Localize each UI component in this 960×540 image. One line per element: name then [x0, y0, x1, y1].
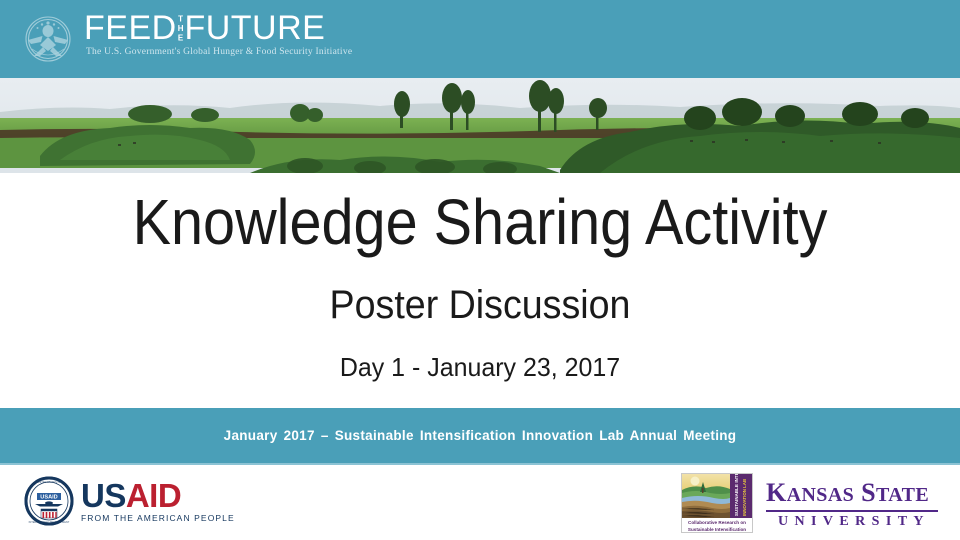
svg-text:UNITED STATES OF: UNITED STATES OF — [37, 480, 62, 484]
usaid-word-us: US — [81, 477, 126, 514]
feed-the-future-wordmark: FEED T H E FUTURE The U.S. Government's … — [84, 12, 352, 57]
ftf-word-future: FUTURE — [184, 12, 325, 44]
landscape-photo-band — [0, 78, 960, 173]
kstate-s: S — [861, 478, 876, 507]
usaid-word-aid: AID — [126, 477, 181, 514]
header-bar: FEED T H E FUTURE The U.S. Government's … — [0, 0, 960, 78]
kstate-k: K — [766, 478, 787, 507]
usaid-seal-icon: USAID UNITED STA — [24, 476, 74, 526]
usaid-tagline: FROM THE AMERICAN PEOPLE — [81, 513, 235, 523]
svg-text:INTERNATIONAL DEVELOPMENT: INTERNATIONAL DEVELOPMENT — [29, 520, 70, 524]
kstate-ansas: ANSAS — [787, 484, 855, 506]
ftf-the-letter-e: E — [178, 33, 184, 42]
us-eagle-seal-icon — [18, 9, 78, 69]
presentation-slide: FEED T H E FUTURE The U.S. Government's … — [0, 0, 960, 540]
kstate-divider — [766, 510, 938, 512]
kstate-wordmark-top: KANSAS STATE — [766, 479, 938, 509]
event-banner-text: January 2017 – Sustainable Intensificati… — [224, 428, 737, 443]
page-date: Day 1 - January 23, 2017 — [19, 351, 941, 383]
feed-the-future-logo: FEED T H E FUTURE The U.S. Government's … — [18, 9, 352, 69]
ftf-the-letter-t: T — [178, 14, 184, 23]
kstate-tate: TATE — [876, 484, 929, 506]
kansas-state-logo: KANSAS STATE UNIVERSITY — [766, 479, 938, 530]
ftf-word-the: T H E — [178, 12, 184, 45]
siil-band-line1: SUSTAINABLE INTENSIFICATION — [734, 474, 739, 516]
siil-band-line2: INNOVATION LAB — [742, 474, 747, 516]
siil-landscape-icon — [682, 474, 730, 518]
siil-logo: SUSTAINABLE INTENSIFICATION INNOVATION L… — [681, 473, 753, 533]
event-banner: January 2017 – Sustainable Intensificati… — [0, 408, 960, 463]
page-subtitle: Poster Discussion — [29, 281, 931, 329]
ftf-word-feed: FEED — [84, 12, 177, 44]
siil-caption-line1: Collaborative Research on — [682, 518, 752, 525]
kstate-wordmark-bottom: UNIVERSITY — [766, 514, 938, 530]
ftf-the-letter-h: H — [178, 23, 184, 32]
slide-content: Knowledge Sharing Activity Poster Discus… — [0, 173, 960, 408]
svg-text:USAID: USAID — [40, 495, 57, 501]
siil-purple-band: SUSTAINABLE INTENSIFICATION INNOVATION L… — [730, 474, 752, 518]
ftf-tagline: The U.S. Government's Global Hunger & Fo… — [86, 47, 352, 57]
page-title: Knowledge Sharing Activity — [48, 183, 912, 261]
footer-logo-strip: USAID UNITED STA — [0, 465, 960, 540]
usaid-logo: USAID UNITED STA — [24, 476, 235, 526]
siil-caption-line2: Sustainable Intensification — [682, 525, 752, 532]
usaid-wordmark: USAID FROM THE AMERICAN PEOPLE — [81, 479, 235, 523]
